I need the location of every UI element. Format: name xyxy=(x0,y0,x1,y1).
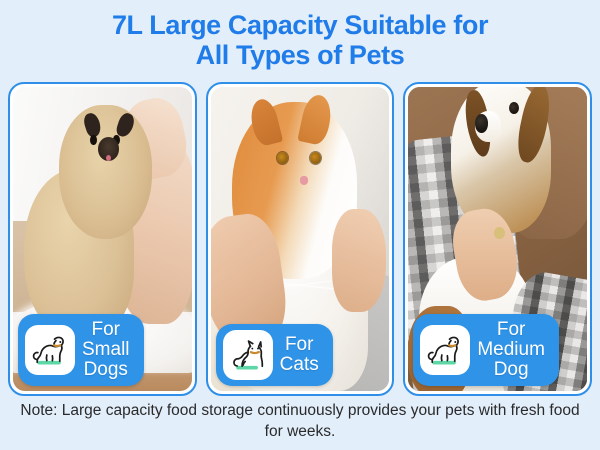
badge-medium-dog[interactable]: For Medium Dog xyxy=(413,314,559,386)
note-text: Note: Large capacity food storage contin… xyxy=(14,400,586,442)
sitting-dog-icon xyxy=(25,325,75,375)
page-title: 7L Large Capacity Suitable for All Types… xyxy=(0,0,600,70)
pet-card-cats[interactable]: For Cats xyxy=(206,82,395,396)
pet-card-small-dogs[interactable]: For Small Dogs xyxy=(8,82,197,396)
badge-cats[interactable]: For Cats xyxy=(216,324,333,386)
sitting-dog-icon xyxy=(420,325,470,375)
pet-cards-row: For Small Dogs xyxy=(8,82,592,396)
page-title-line-1: 7L Large Capacity Suitable for xyxy=(0,10,600,40)
badge-small-dogs[interactable]: For Small Dogs xyxy=(18,314,144,386)
sitting-cat-icon xyxy=(223,330,273,380)
pet-card-medium-dog[interactable]: For Medium Dog xyxy=(403,82,592,396)
badge-label-medium-dog: For Medium Dog xyxy=(477,320,549,380)
page-title-line-2: All Types of Pets xyxy=(0,40,600,70)
badge-label-small-dogs: For Small Dogs xyxy=(82,320,134,380)
badge-label-cats: For Cats xyxy=(280,335,323,375)
